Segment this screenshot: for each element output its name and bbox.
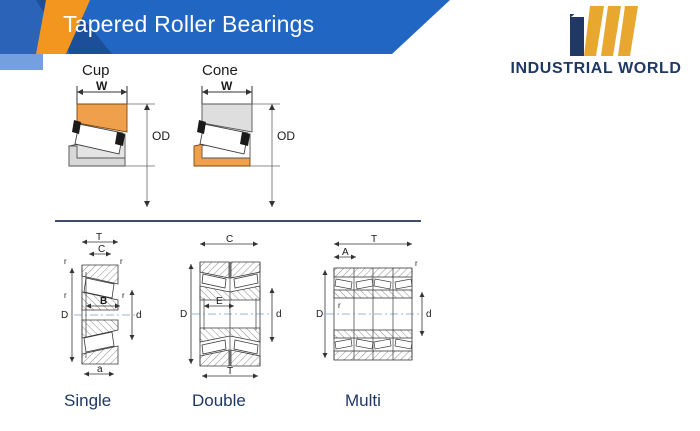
multi-bearing-diagram: T A D d r r	[316, 232, 441, 382]
multi-radius-2: r	[338, 301, 341, 310]
cone-diagram: W OD	[180, 82, 310, 222]
single-dim-B: B	[100, 296, 107, 307]
single-dim-C: C	[98, 244, 105, 255]
double-bearing-diagram: C D d E T	[178, 232, 298, 382]
multi-dim-D: D	[316, 309, 323, 320]
multi-radius-1: r	[415, 259, 418, 268]
multi-dim-T: T	[371, 234, 377, 245]
double-dim-D: D	[180, 309, 187, 320]
page-title: Tapered Roller Bearings	[63, 11, 314, 38]
multi-caption: Multi	[345, 391, 381, 411]
cup-diagram: W OD	[55, 82, 185, 222]
double-caption: Double	[192, 391, 246, 411]
double-dim-C: C	[226, 234, 233, 245]
single-dim-T: T	[96, 232, 102, 243]
diagram-canvas: Cup W OD Cone W	[0, 54, 700, 431]
cup-title: Cup	[82, 62, 110, 79]
multi-dim-d: d	[426, 309, 432, 320]
single-dim-D: D	[61, 310, 68, 321]
single-radius-1: r	[64, 257, 67, 266]
single-dim-d: d	[136, 310, 142, 321]
iw-monogram-icon	[568, 6, 640, 56]
cup-width-label: W	[96, 79, 108, 93]
single-dim-a: a	[97, 364, 103, 375]
single-radius-2: r	[120, 257, 123, 266]
single-radius-4: r	[122, 291, 125, 300]
single-radius-3: r	[64, 291, 67, 300]
cone-title: Cone	[202, 62, 238, 79]
cone-width-label: W	[221, 79, 233, 93]
single-bearing-diagram: T C D d B a	[58, 232, 173, 382]
cone-od-label: OD	[277, 129, 295, 143]
double-dim-E: E	[216, 296, 223, 307]
double-dim-d: d	[276, 309, 282, 320]
single-caption: Single	[64, 391, 111, 411]
cup-od-label: OD	[152, 129, 170, 143]
multi-dim-A: A	[342, 247, 349, 258]
double-dim-T: T	[227, 366, 233, 377]
